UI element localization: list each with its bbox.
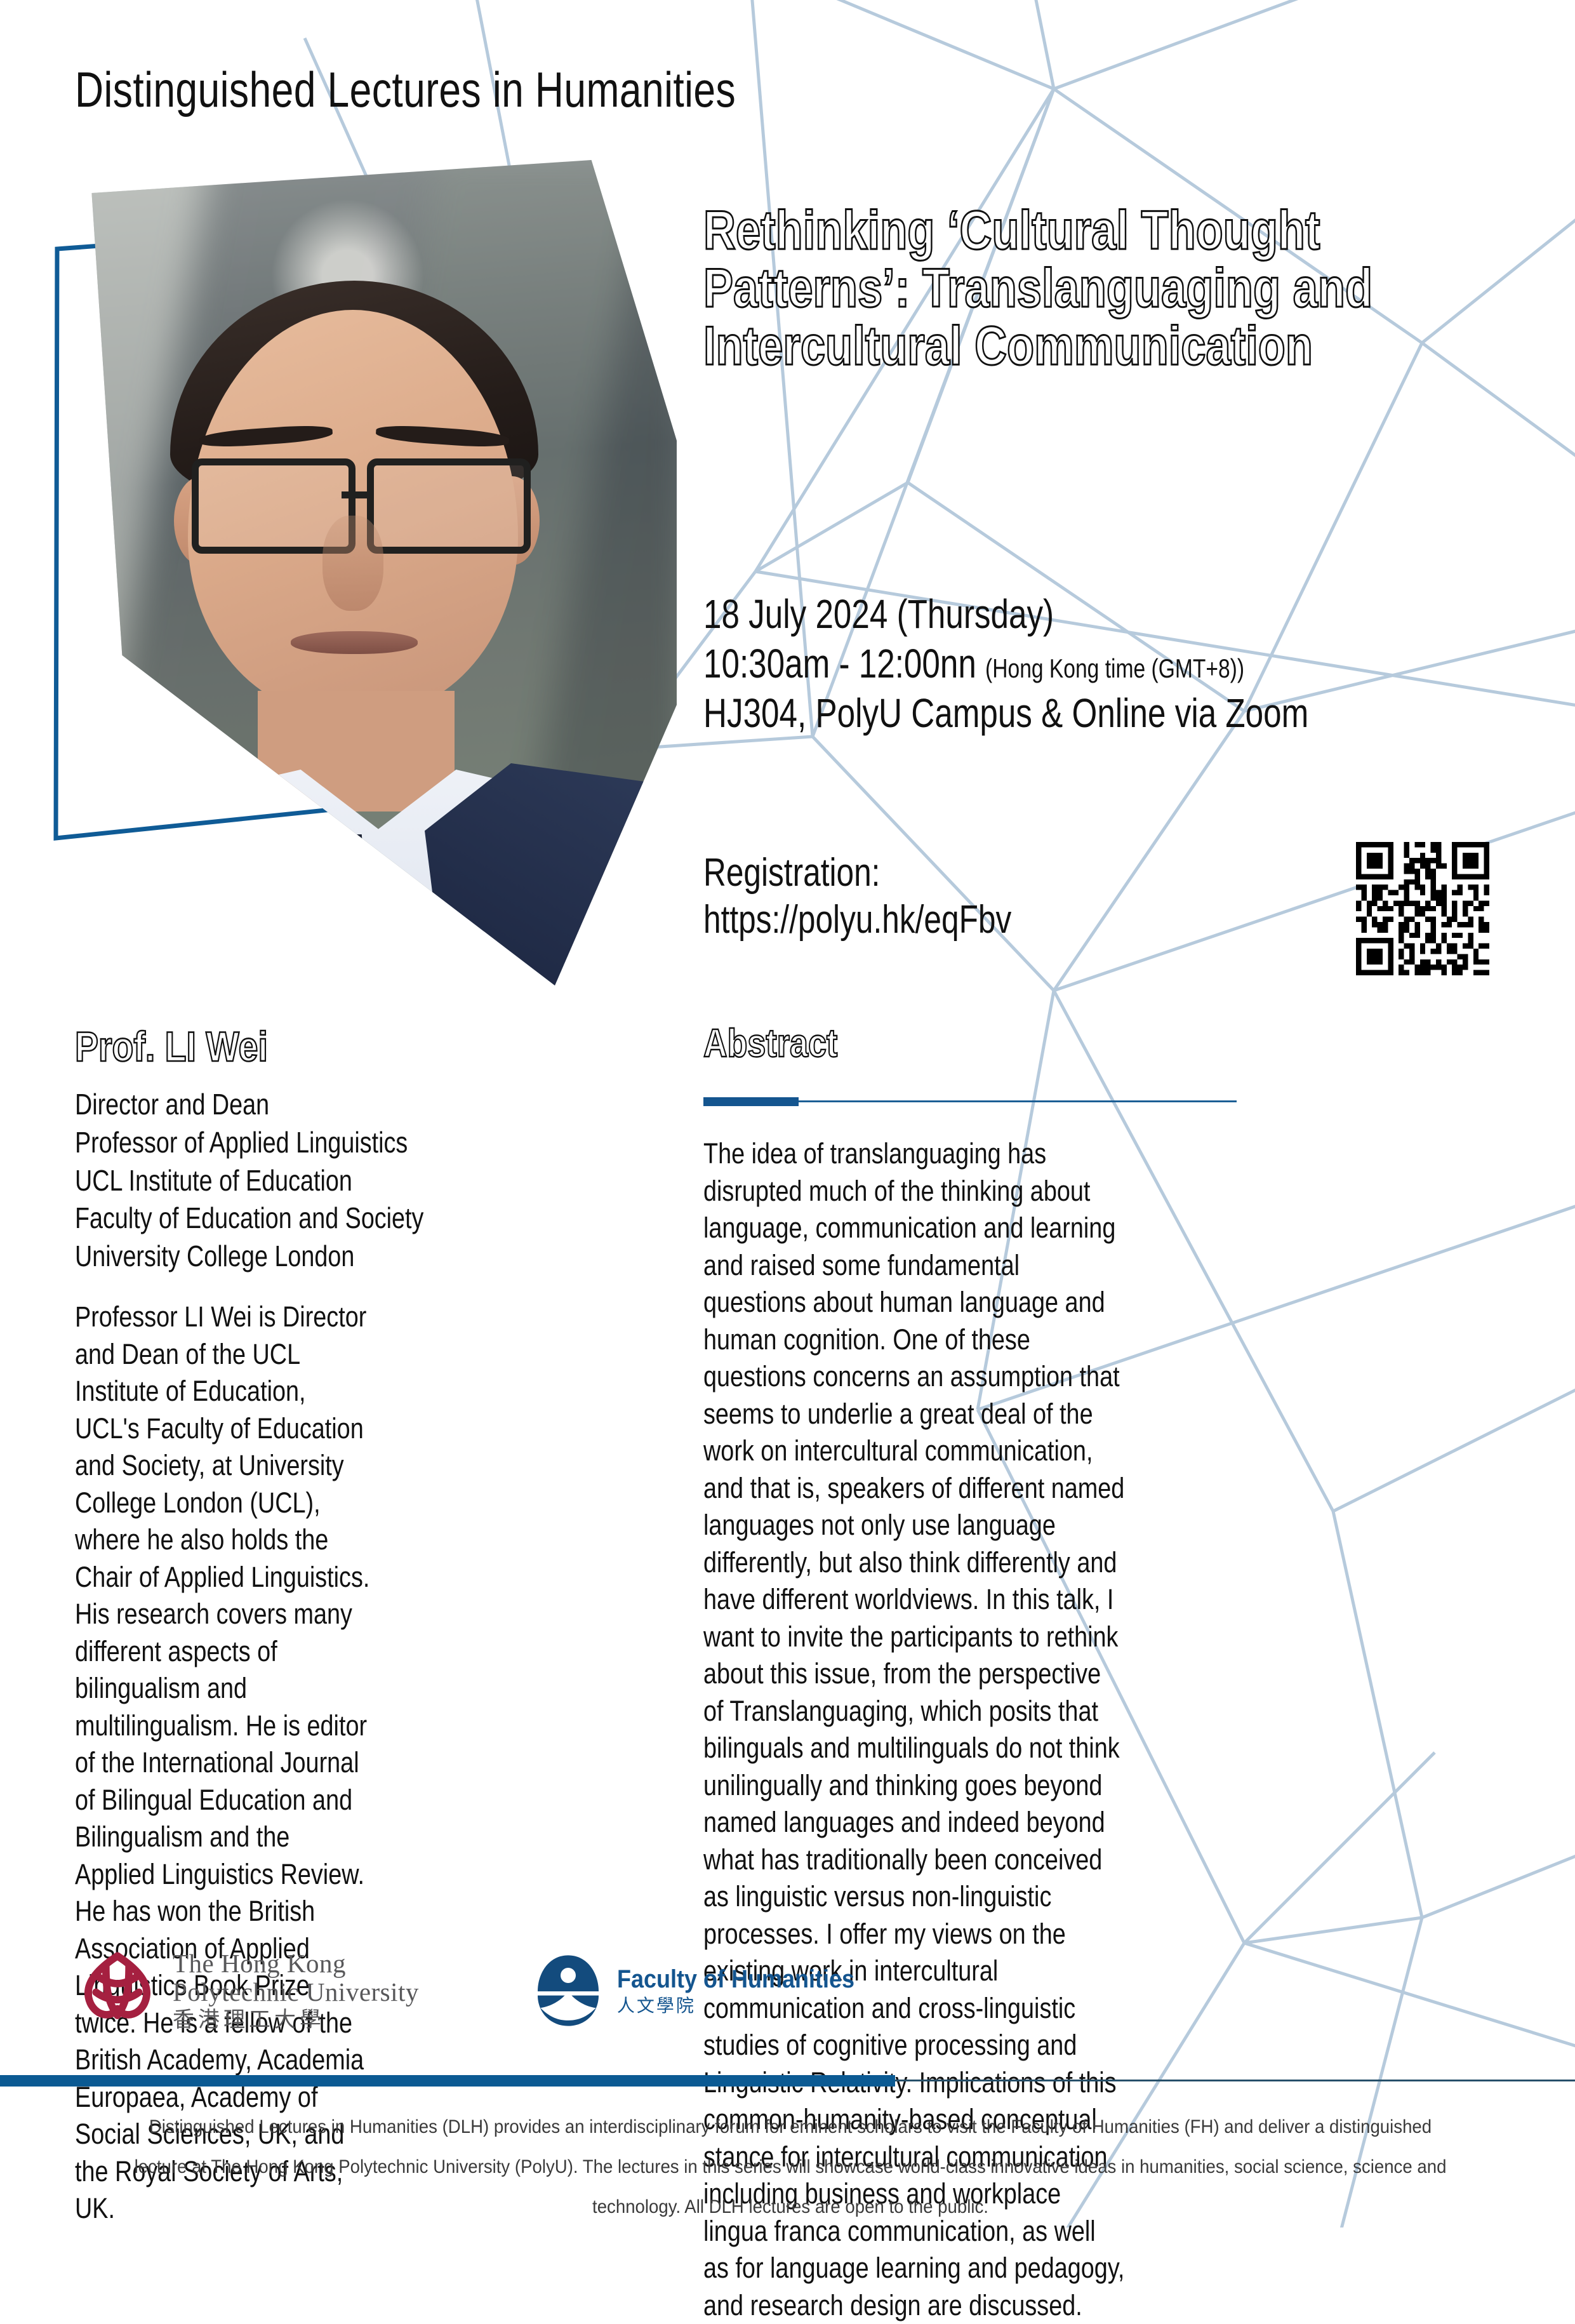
- registration-url[interactable]: https://polyu.hk/eqFbv: [703, 897, 1011, 944]
- polyu-chinese: 香港理工大學: [173, 2009, 419, 2031]
- affiliation-line: Professor of Applied Linguistics: [75, 1124, 543, 1162]
- event-details: 18 July 2024 (Thursday) 10:30am - 12:00n…: [703, 589, 1541, 738]
- affiliation-line: UCL Institute of Education: [75, 1162, 543, 1200]
- logo-row: The Hong Kong Polytechnic University 香港理…: [76, 1949, 881, 2032]
- speaker-affiliation: Director and Dean Professor of Applied L…: [75, 1086, 646, 1276]
- abstract-divider: [703, 1097, 1237, 1106]
- faculty-humanities-icon: [533, 1953, 603, 2029]
- polyu-logo-text: The Hong Kong Polytechnic University 香港理…: [173, 1951, 419, 2031]
- footer-description: Distinguished Lectures in Humanities (DL…: [122, 2107, 1459, 2227]
- event-time-row: 10:30am - 12:00nn (Hong Kong time (GMT+8…: [703, 639, 1374, 688]
- event-venue: HJ304, PolyU Campus & Online via Zoom: [703, 688, 1374, 738]
- polyu-knot-icon: [76, 1949, 159, 2032]
- faculty-logo-text: Faculty of Humanities 人文學院: [617, 1966, 881, 2015]
- affiliation-line: University College London: [75, 1238, 543, 1276]
- speaker-biography: Professor LI Wei is Director and Dean of…: [75, 1299, 373, 2227]
- faculty-chinese: 人文學院: [617, 1996, 881, 2015]
- affiliation-line: Faculty of Education and Society: [75, 1199, 543, 1238]
- polyu-logo: The Hong Kong Polytechnic University 香港理…: [76, 1949, 419, 2032]
- event-date: 18 July 2024 (Thursday): [703, 589, 1374, 639]
- lecture-title: Rethinking ‘Cultural Thought Patterns’: …: [703, 202, 1375, 375]
- faculty-english: Faculty of Humanities: [617, 1966, 854, 1993]
- qr-code[interactable]: [1356, 842, 1489, 975]
- registration-label: Registration:: [703, 850, 1011, 897]
- event-time: 10:30am - 12:00nn: [703, 641, 976, 686]
- affiliation-line: Director and Dean: [75, 1086, 543, 1124]
- event-timezone: (Hong Kong time (GMT+8)): [985, 653, 1244, 683]
- polyu-line2: Polytechnic University: [173, 1979, 419, 2005]
- page-title: Distinguished Lectures in Humanities: [75, 61, 736, 119]
- faculty-of-humanities-logo: Faculty of Humanities 人文學院: [533, 1953, 881, 2029]
- abstract-heading: Abstract: [703, 1021, 837, 1066]
- polyu-line1: The Hong Kong: [173, 1951, 419, 1977]
- footer-divider: [0, 2075, 1575, 2087]
- registration-block: Registration: https://polyu.hk/eqFbv: [703, 850, 1089, 944]
- speaker-name: Prof. LI Wei: [75, 1022, 268, 1071]
- speaker-photo-block: [30, 160, 678, 998]
